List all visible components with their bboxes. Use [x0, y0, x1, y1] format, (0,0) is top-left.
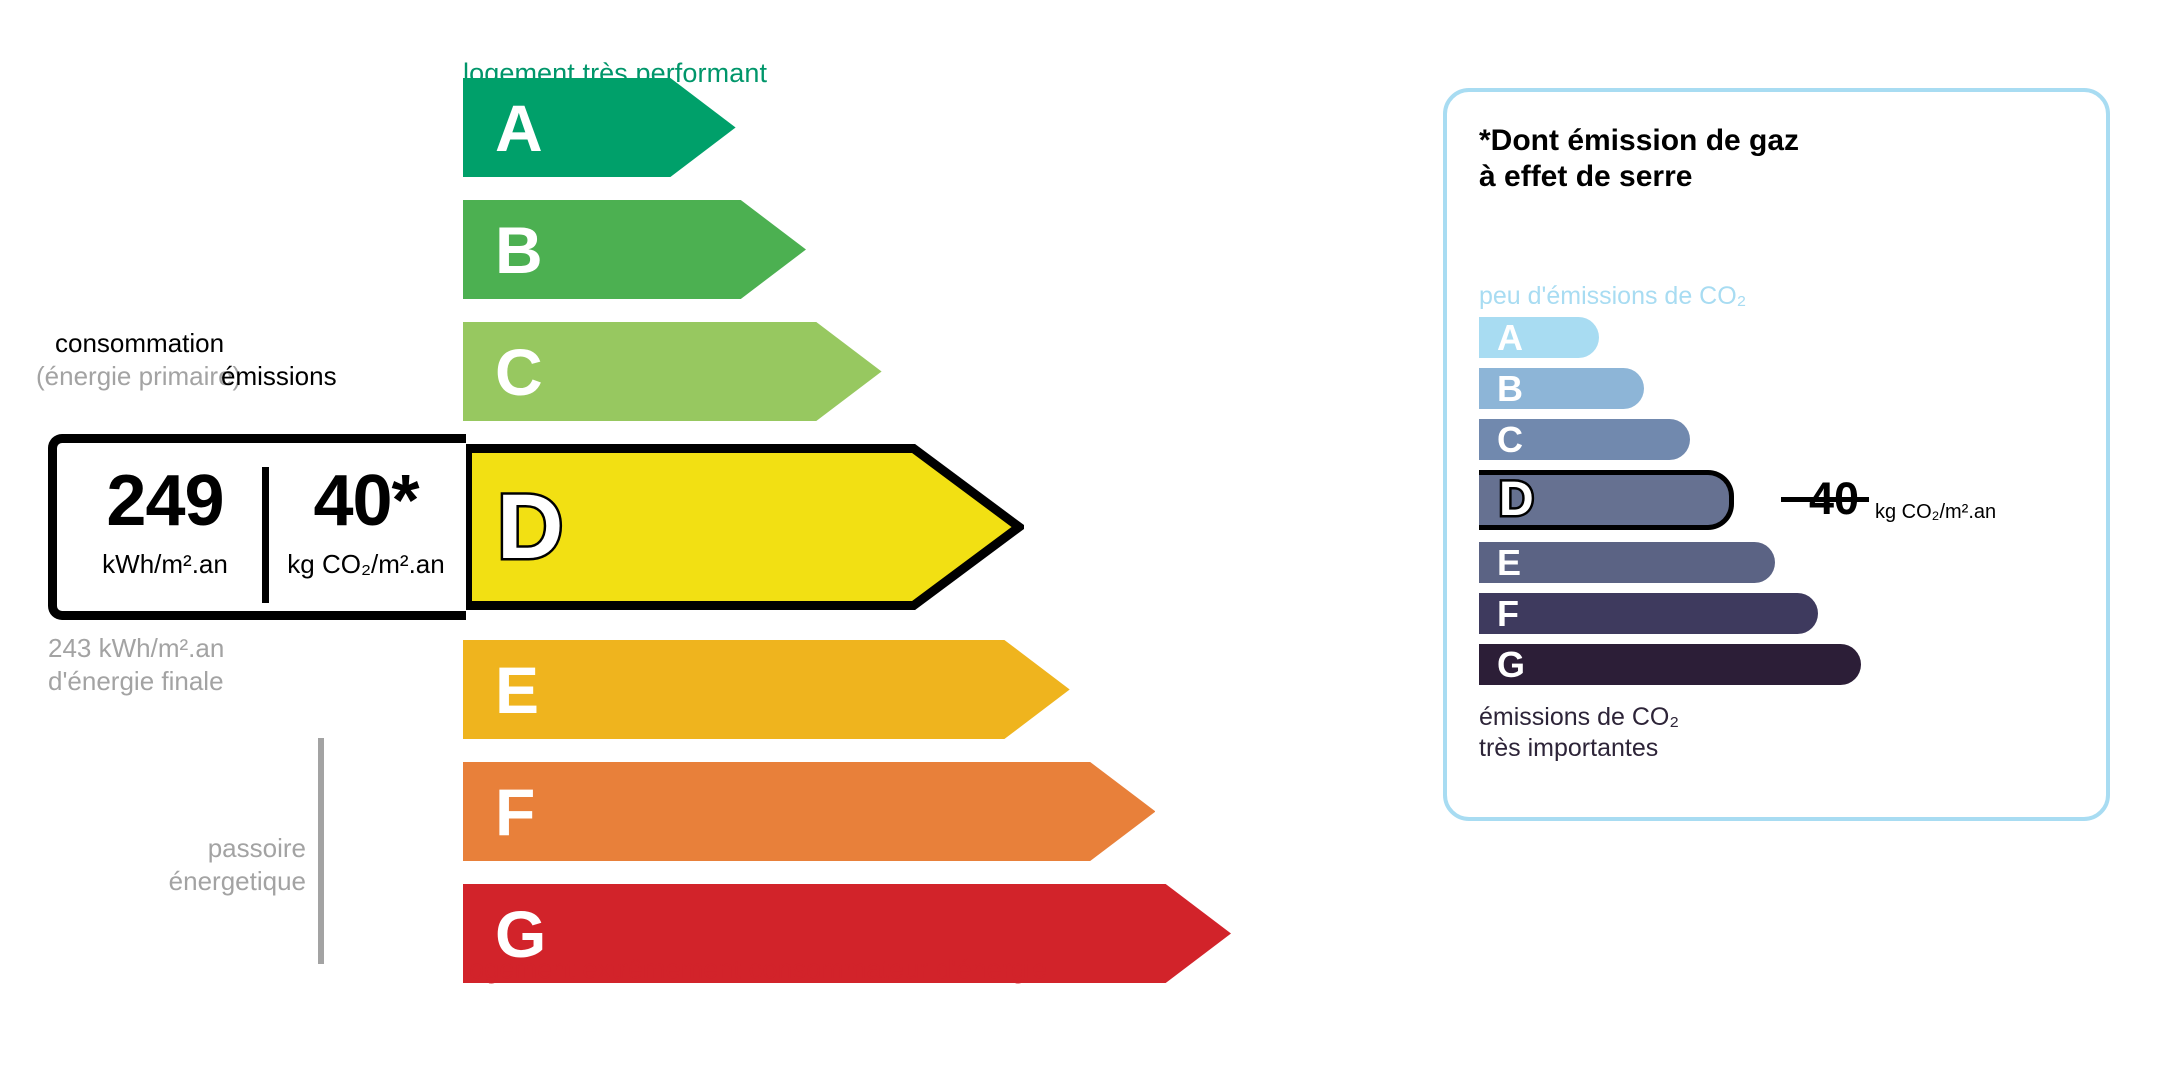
consumption-header: consommation: [55, 328, 224, 359]
energy-arrow-f: F: [463, 762, 1155, 861]
ges-panel: *Dont émission de gaz à effet de serre p…: [1443, 88, 2110, 821]
ges-class-row-b[interactable]: B: [1479, 368, 1644, 409]
ges-value-unit: kg CO₂/m².an: [1875, 501, 1996, 524]
ges-bar-c: C: [1479, 419, 1690, 460]
ges-class-row-f[interactable]: F: [1479, 593, 1818, 634]
ges-title-line2: à effet de serre: [1479, 159, 1799, 195]
energy-bottom-caption: logement extrêmement consommateur d'éner…: [463, 954, 1047, 985]
passoire-bracket: [318, 738, 324, 964]
passoire-label: passoire énergetique: [120, 832, 306, 898]
final-energy-note: 243 kWh/m².an d'énergie finale: [48, 632, 224, 698]
passoire-line1: passoire: [120, 832, 306, 865]
ges-title: *Dont émission de gaz à effet de serre: [1479, 123, 1799, 195]
energy-arrow-e: E: [463, 640, 1070, 739]
energy-class-row-c[interactable]: C: [463, 322, 882, 421]
energy-class-row-a[interactable]: A: [463, 78, 736, 177]
energy-class-row-b[interactable]: B: [463, 200, 806, 299]
ges-class-letter-f: F: [1497, 596, 1519, 632]
ges-class-row-g[interactable]: G: [1479, 644, 1861, 685]
emissions-value: 40*: [271, 465, 461, 537]
ges-class-letter-c: C: [1497, 422, 1523, 458]
ges-class-letter-d: D: [1499, 476, 1534, 524]
energy-arrow-d: D: [463, 444, 1024, 610]
ges-bar-a: A: [1479, 317, 1599, 358]
ges-value: 40: [1809, 476, 1859, 521]
ges-bar-g: G: [1479, 644, 1861, 685]
energy-class-row-f[interactable]: F: [463, 762, 1155, 861]
ges-bar-b: B: [1479, 368, 1644, 409]
consumption-header-sub: (énergie primaire): [36, 361, 241, 392]
ges-class-letter-b: B: [1497, 371, 1523, 407]
ges-class-row-e[interactable]: E: [1479, 542, 1775, 583]
ges-top-caption: peu d'émissions de CO₂: [1479, 282, 1746, 311]
final-energy-line2: d'énergie finale: [48, 665, 224, 698]
consumption-unit: kWh/m².an: [71, 549, 259, 580]
ges-class-row-c[interactable]: C: [1479, 419, 1690, 460]
ges-class-letter-e: E: [1497, 545, 1521, 581]
ges-bottom-caption: émissions de CO₂ très importantes: [1479, 702, 1679, 763]
value-card: 249 kWh/m².an 40* kg CO₂/m².an: [48, 434, 466, 620]
passoire-line2: énergetique: [120, 865, 306, 898]
ges-class-letter-g: G: [1497, 647, 1525, 683]
consumption-value-cell: 249 kWh/m².an: [71, 465, 259, 580]
ges-class-row-a[interactable]: A: [1479, 317, 1599, 358]
ges-bar-d: D: [1479, 470, 1734, 530]
ges-class-letter-a: A: [1497, 320, 1523, 356]
ges-bottom-line1: émissions de CO₂: [1479, 702, 1679, 733]
final-energy-line1: 243 kWh/m².an: [48, 632, 224, 665]
energy-arrow-c: C: [463, 322, 882, 421]
emissions-unit: kg CO₂/m².an: [271, 549, 461, 580]
consumption-value: 249: [71, 465, 259, 537]
ges-class-row-d[interactable]: D: [1479, 470, 1734, 530]
energy-class-row-d[interactable]: D: [463, 444, 1024, 610]
emissions-header: émissions: [221, 361, 337, 392]
ges-bar-f: F: [1479, 593, 1818, 634]
ges-title-line1: *Dont émission de gaz: [1479, 123, 1799, 159]
energy-arrow-a: A: [463, 78, 736, 177]
value-card-divider: [262, 467, 269, 603]
ges-bar-e: E: [1479, 542, 1775, 583]
ges-bottom-line2: très importantes: [1479, 733, 1679, 764]
energy-arrow-b: B: [463, 200, 806, 299]
emissions-value-cell: 40* kg CO₂/m².an: [271, 465, 461, 580]
energy-class-row-e[interactable]: E: [463, 640, 1070, 739]
energy-performance-panel: logement très performant ABCDEFG consomm…: [0, 0, 1380, 1079]
